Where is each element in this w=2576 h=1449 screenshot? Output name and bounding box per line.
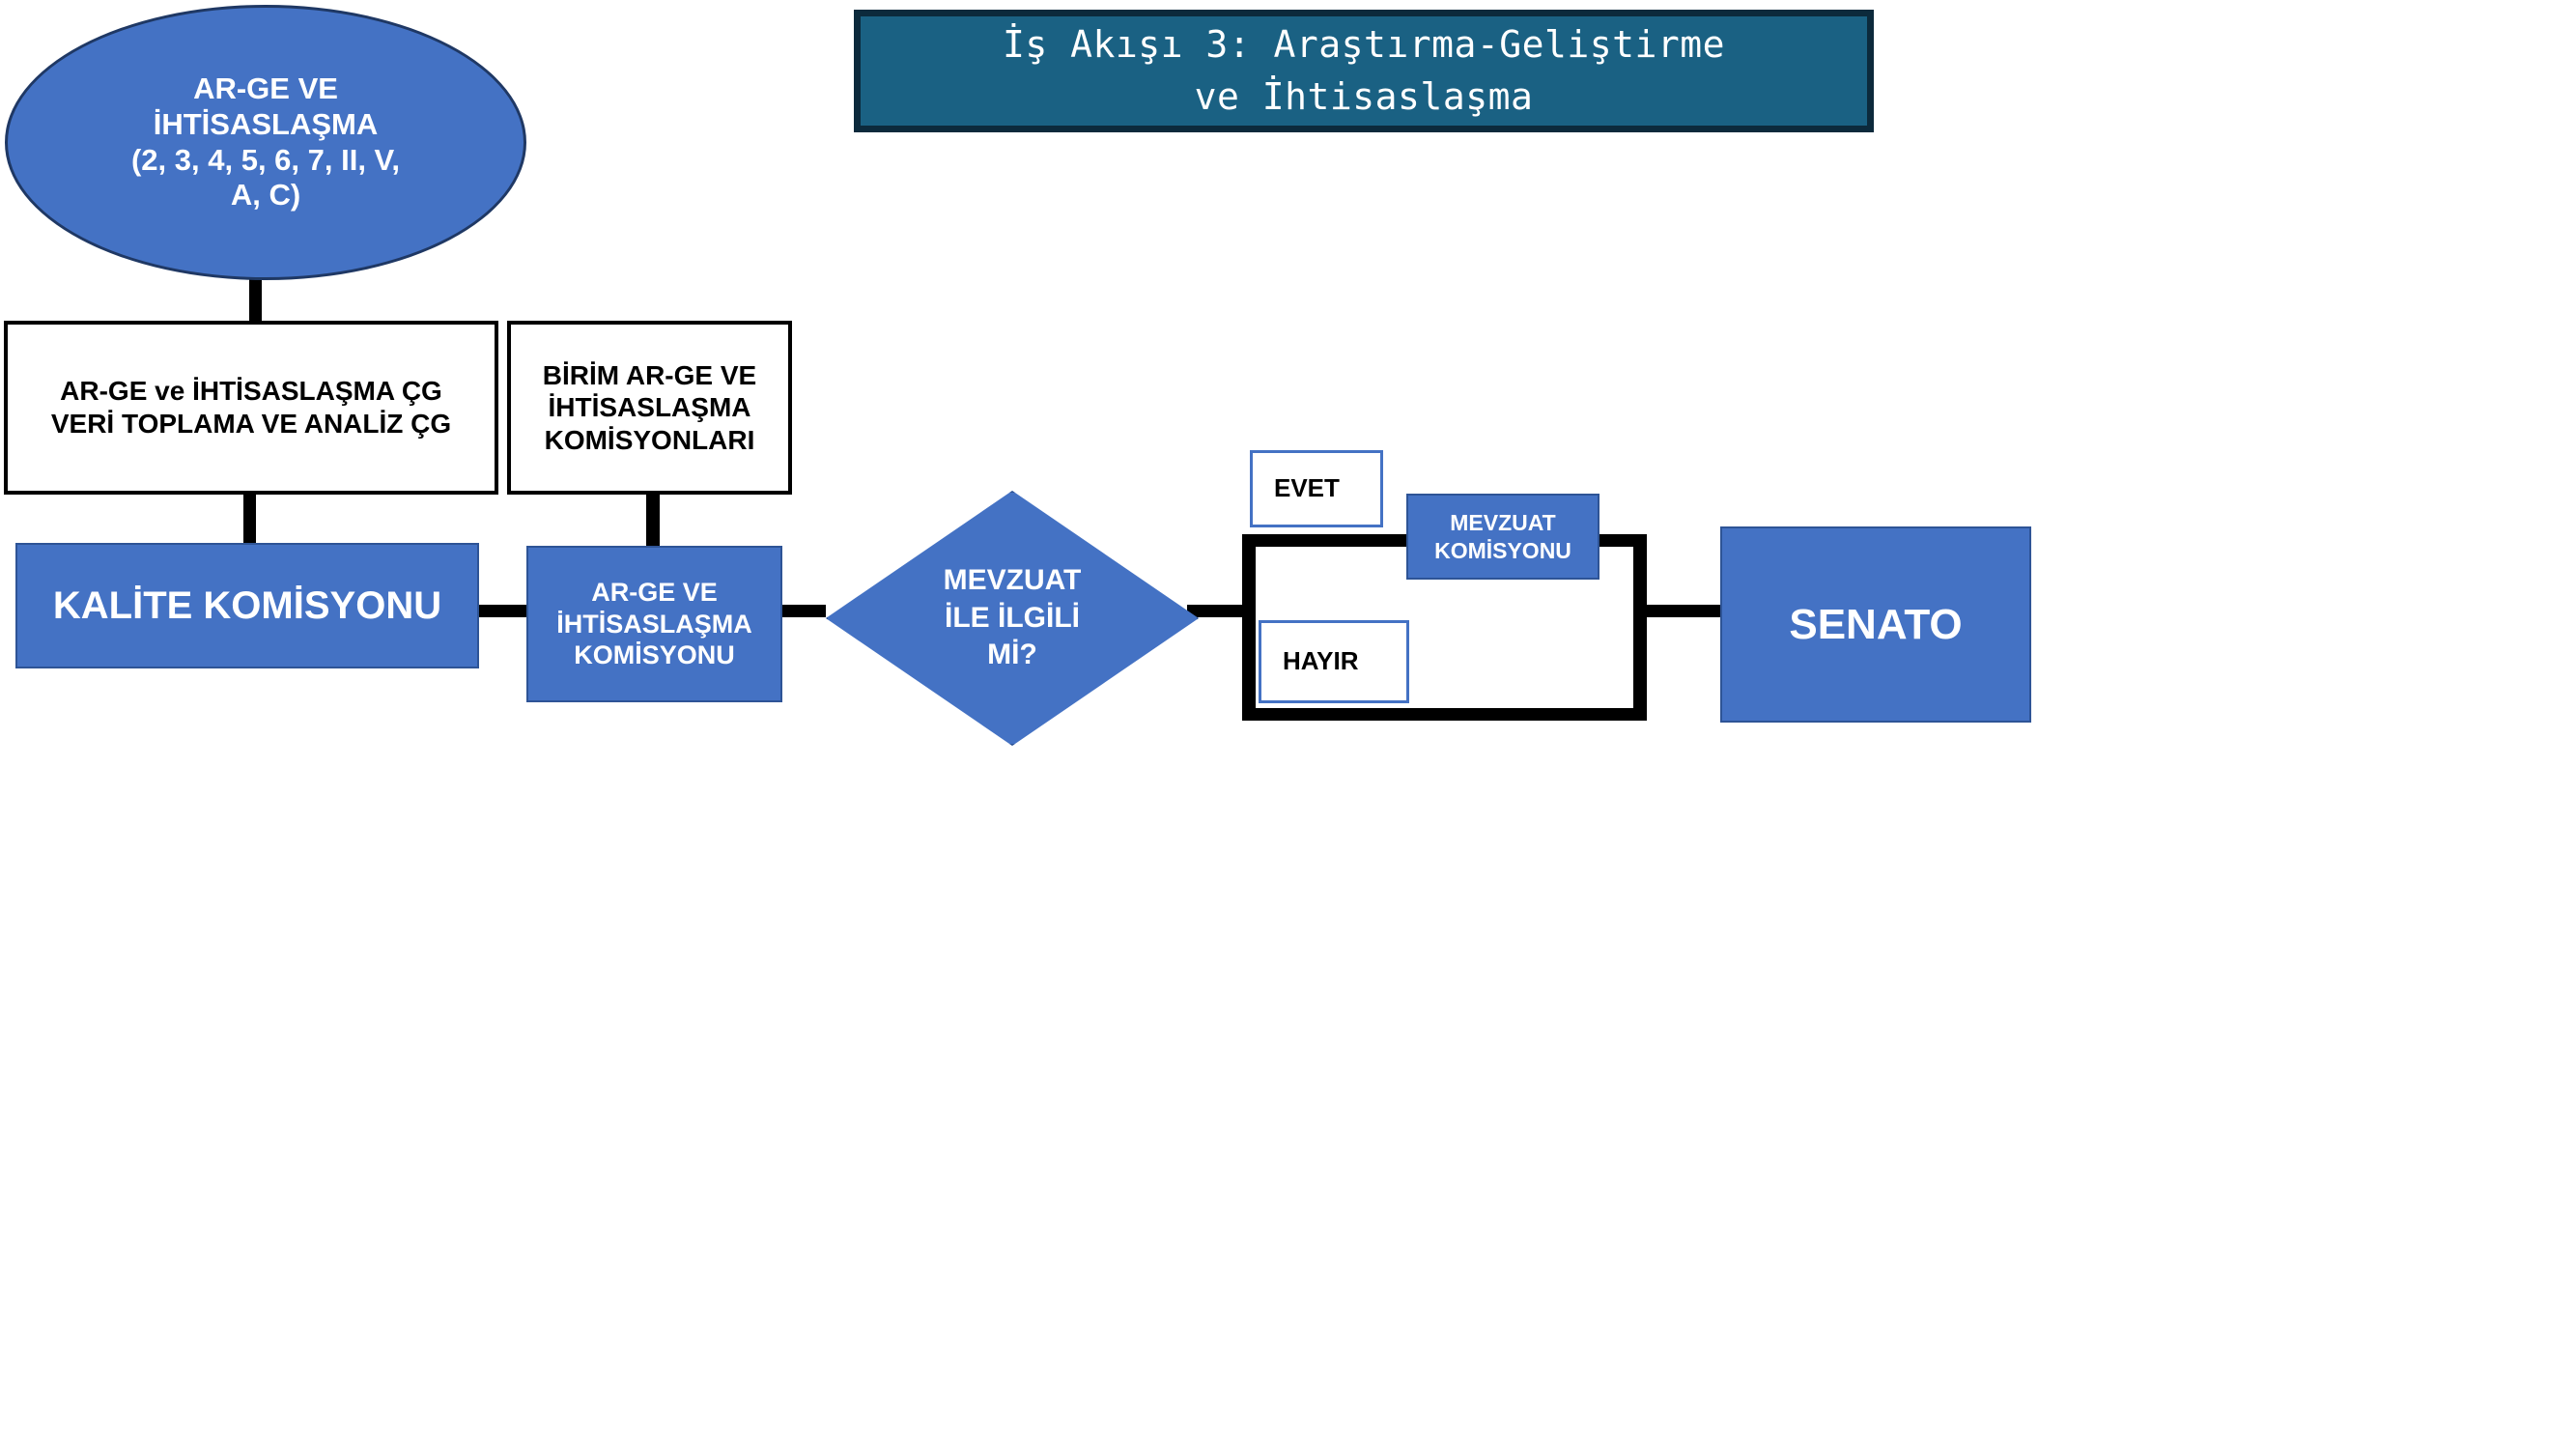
- connector-evet-to-mevzuat-komisyonu: [1242, 534, 1406, 547]
- node-birim-komisyonlari-label: BİRİM AR-GE VE İHTİSASLAŞMA KOMİSYONLARI: [543, 359, 756, 457]
- branch-label-hayir[interactable]: HAYIR: [1259, 620, 1409, 703]
- node-mevzuat-decision-diamond[interactable]: MEVZUAT İLE İLGİLİ Mİ?: [826, 491, 1199, 746]
- node-arge-cg-label: AR-GE ve İHTİSASLAŞMA ÇG VERİ TOPLAMA VE…: [51, 375, 451, 440]
- node-kalite-komisyonu-box[interactable]: KALİTE KOMİSYONU: [15, 543, 479, 668]
- node-birim-komisyonlari-box[interactable]: BİRİM AR-GE VE İHTİSASLAŞMA KOMİSYONLARI: [507, 321, 792, 495]
- node-mevzuat-decision-label: MEVZUAT İLE İLGİLİ Mİ?: [826, 491, 1199, 746]
- flowchart-canvas: İş Akışı 3: Araştırma-Geliştirme ve İhti…: [0, 0, 2576, 1449]
- node-mevzuat-komisyonu-box[interactable]: MEVZUAT KOMİSYONU: [1406, 494, 1599, 580]
- connector-branch-vertical-bus: [1242, 534, 1256, 721]
- connector-argekomisyonu-to-diamond: [780, 605, 826, 617]
- node-mevzuat-komisyonu-label: MEVZUAT KOMİSYONU: [1434, 509, 1571, 563]
- node-senato-box[interactable]: SENATO: [1720, 526, 2031, 723]
- node-arge-komisyonu-box[interactable]: AR-GE VE İHTİSASLAŞMA KOMİSYONU: [526, 546, 782, 702]
- branch-label-evet[interactable]: EVET: [1250, 450, 1383, 527]
- title-banner: İş Akışı 3: Araştırma-Geliştirme ve İhti…: [854, 10, 1874, 132]
- connector-birim-to-argekomisyonu: [646, 493, 660, 546]
- node-arge-cg-box[interactable]: AR-GE ve İHTİSASLAŞMA ÇG VERİ TOPLAMA VE…: [4, 321, 498, 495]
- branch-label-hayir-text: HAYIR: [1283, 646, 1359, 676]
- node-arge-komisyonu-label: AR-GE VE İHTİSASLAŞMA KOMİSYONU: [556, 577, 752, 672]
- node-kalite-komisyonu-label: KALİTE KOMİSYONU: [53, 582, 441, 630]
- branch-label-evet-text: EVET: [1274, 473, 1340, 503]
- connector-hayir-to-senato-bus: [1242, 708, 1646, 721]
- connector-bus-to-senato: [1633, 605, 1724, 617]
- connector-senato-vertical-bus: [1633, 534, 1647, 721]
- connector-argecg-to-kalite: [243, 493, 256, 543]
- node-arge-ihtisaslasma-label: AR-GE VE İHTİSASLAŞMA (2, 3, 4, 5, 6, 7,…: [99, 71, 433, 213]
- node-senato-label: SENATO: [1789, 599, 1962, 651]
- connector-kalite-to-argekomisyonu: [478, 605, 526, 617]
- node-arge-ihtisaslasma-ellipse[interactable]: AR-GE VE İHTİSASLAŞMA (2, 3, 4, 5, 6, 7,…: [5, 5, 526, 280]
- title-banner-text: İş Akışı 3: Araştırma-Geliştirme ve İhti…: [1003, 19, 1725, 124]
